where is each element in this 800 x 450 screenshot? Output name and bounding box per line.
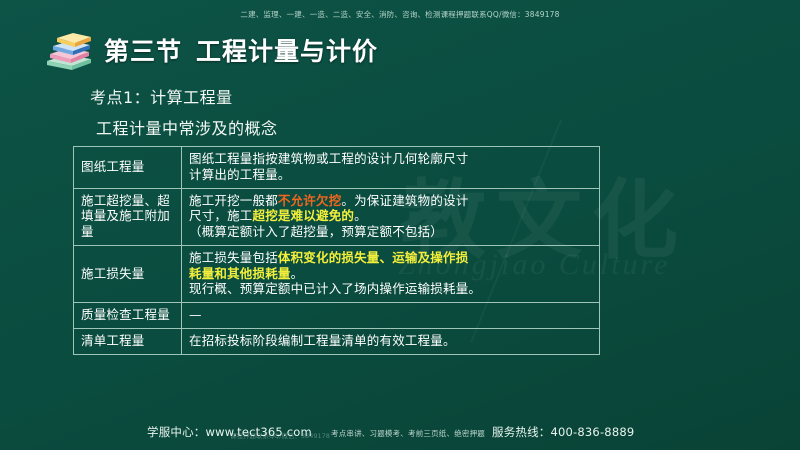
footer-services: 考点串讲、习题模考、考前三页纸、绝密押题: [331, 428, 485, 439]
table-row: 施工损失量施工损失量包括体积变化的损失量、运输及操作损耗量和其他损耗量。现行概、…: [74, 245, 600, 302]
plain-text: 现行概、预算定额中已计入了场内操作运输损耗量。: [189, 281, 481, 296]
page-title: 第三节工程计量与计价: [104, 32, 378, 68]
top-contact-banner: 二建、监理、一建、一造、二造、安全、消防、咨询、检测课程押题联系QQ/微信：38…: [0, 9, 800, 20]
highlight-yellow-text: 超挖是难以避免的: [253, 208, 355, 223]
table-cell-description: 施工开挖一般都不允许欠挖。为保证建筑物的设计尺寸，施工超挖是难以避免的。（概算定…: [182, 188, 600, 245]
description-line: —: [189, 307, 593, 323]
plain-text: —: [189, 307, 202, 322]
table-cell-description: 在招标投标阶段编制工程量清单的有效工程量。: [182, 328, 600, 354]
stack-of-books-icon: [44, 28, 94, 72]
description-line: 图纸工程量指按建筑物或工程的设计几何轮廓尺寸: [189, 151, 593, 167]
table-row: 图纸工程量图纸工程量指按建筑物或工程的设计几何轮廓尺寸计算出的工程量。: [74, 147, 600, 189]
description-line: 尺寸，施工超挖是难以避免的。: [189, 208, 593, 224]
description-line: 现行概、预算定额中已计入了场内操作运输损耗量。: [189, 281, 593, 297]
footer-service-center: 学服中心：www.tect365.com: [147, 424, 312, 440]
description-line: 耗量和其他损耗量。: [189, 266, 593, 282]
table-cell-description: —: [182, 303, 600, 329]
plain-text: 施工开挖一般都: [189, 193, 278, 208]
footer-hotline: 服务热线：400-836-8889: [492, 424, 634, 440]
description-line: 计算出的工程量。: [189, 167, 593, 183]
kaodian-heading: 考点1：计算工程量: [90, 84, 233, 108]
description-line: 施工损失量包括体积变化的损失量、运输及操作损: [189, 250, 593, 266]
concept-table: 图纸工程量图纸工程量指按建筑物或工程的设计几何轮廓尺寸计算出的工程量。施工超挖量…: [73, 146, 600, 355]
plain-text: 施工损失量包括: [189, 250, 278, 265]
slide-header: 第三节工程计量与计价: [44, 28, 378, 72]
plain-text: 。: [291, 266, 304, 281]
description-line: 在招标投标阶段编制工程量清单的有效工程量。: [189, 333, 593, 349]
plain-text: 图纸工程量指按建筑物或工程的设计几何轮廓尺寸: [189, 151, 468, 166]
table-cell-description: 施工损失量包括体积变化的损失量、运输及操作损耗量和其他损耗量。现行概、预算定额中…: [182, 245, 600, 302]
table-cell-term: 施工损失量: [74, 245, 182, 302]
description-line: 施工开挖一般都不允许欠挖。为保证建筑物的设计: [189, 193, 593, 209]
table-row: 施工超挖量、超填量及施工附加量施工开挖一般都不允许欠挖。为保证建筑物的设计尺寸，…: [74, 188, 600, 245]
plain-text: 。: [354, 208, 367, 223]
footer-bar: 课程押题联系QQ/微信：3849178 学服中心：www.tect365.com…: [0, 423, 800, 441]
table-cell-term: 清单工程量: [74, 328, 182, 354]
table-row: 清单工程量在招标投标阶段编制工程量清单的有效工程量。: [74, 328, 600, 354]
table-cell-term: 施工超挖量、超填量及施工附加量: [74, 188, 182, 245]
plain-text: （概算定额计入了超挖量，预算定额不包括）: [189, 224, 443, 239]
plain-text: 。为保证建筑物的设计: [341, 193, 468, 208]
highlight-yellow-text: 体积变化的损失量、运输及操作损: [278, 250, 469, 265]
table-cell-term: 质量检查工程量: [74, 303, 182, 329]
table-body: 图纸工程量图纸工程量指按建筑物或工程的设计几何轮廓尺寸计算出的工程量。施工超挖量…: [74, 147, 600, 355]
title-text: 工程计量与计价: [196, 37, 378, 66]
plain-text: 在招标投标阶段编制工程量清单的有效工程量。: [189, 333, 456, 348]
highlight-yellow-text: 耗量和其他损耗量: [189, 266, 291, 281]
concept-table-wrapper: 图纸工程量图纸工程量指按建筑物或工程的设计几何轮廓尺寸计算出的工程量。施工超挖量…: [73, 146, 600, 355]
table-row: 质量检查工程量—: [74, 303, 600, 329]
slide-canvas: 教文化 Zhongjiao Culture 二建、监理、一建、一造、二造、安全、…: [0, 0, 800, 450]
highlight-orange-text: 不允许欠挖: [278, 193, 342, 208]
table-cell-term: 图纸工程量: [74, 147, 182, 189]
plain-text: 尺寸，施工: [189, 208, 253, 223]
table-cell-description: 图纸工程量指按建筑物或工程的设计几何轮廓尺寸计算出的工程量。: [182, 147, 600, 189]
description-line: （概算定额计入了超挖量，预算定额不包括）: [189, 224, 593, 240]
concept-heading: 工程计量中常涉及的概念: [96, 115, 278, 139]
plain-text: 计算出的工程量。: [189, 167, 291, 182]
section-label: 第三节: [104, 37, 182, 66]
